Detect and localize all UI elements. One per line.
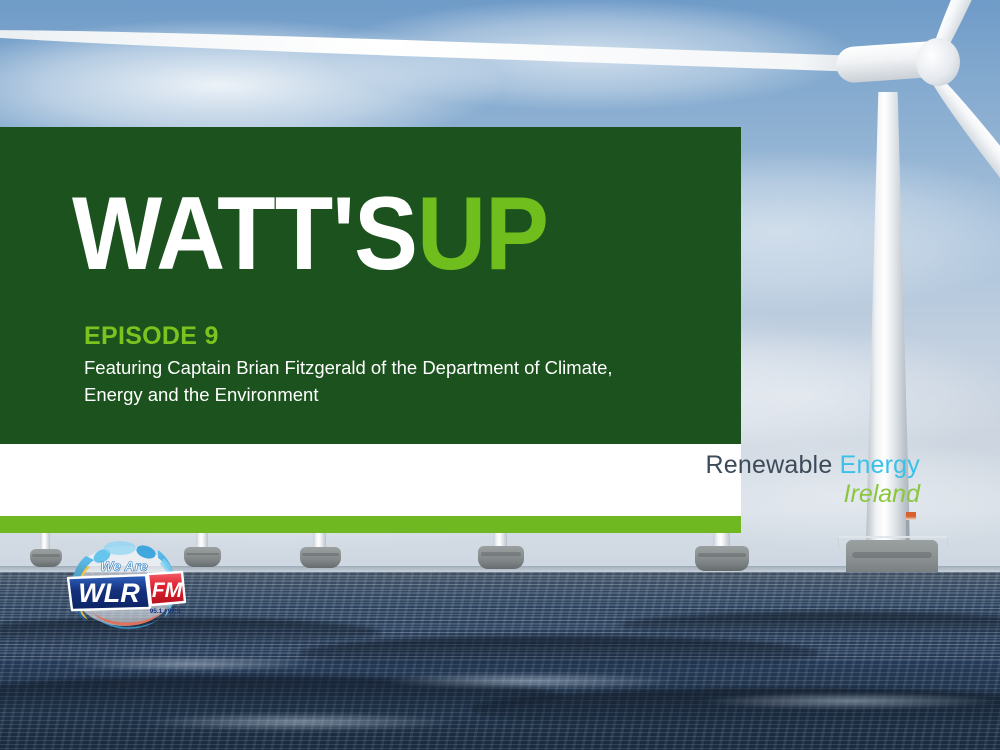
turbine-base [30, 549, 62, 567]
episode-number-label: EPISODE 9 [84, 322, 219, 351]
wave-foam [380, 672, 680, 690]
wlr-callsign-banner: WLR [68, 575, 150, 610]
show-title-part-green: UP [417, 176, 548, 292]
wlr-frequencies: 95.1 / 97.5 [150, 608, 181, 615]
logo-panel [0, 444, 741, 516]
rei-word-ireland: Ireland [706, 481, 920, 508]
wave [300, 636, 820, 670]
rei-word-renewable: Renewable [706, 451, 833, 479]
turbine-base [300, 547, 341, 568]
episode-cover-image: WATT'SUP EPISODE 9 Featuring Captain Bri… [0, 0, 1000, 750]
wlr-callsign-text: WLR [78, 578, 140, 608]
wlr-band-banner: FM [148, 572, 185, 605]
wave-foam [700, 692, 1000, 710]
wave-foam [140, 712, 460, 732]
show-title-part-white: WATT'S [72, 176, 417, 292]
rei-word-energy: Energy [840, 451, 920, 479]
episode-guest-description: Featuring Captain Brian Fitzgerald of th… [84, 355, 664, 409]
wave-foam [60, 656, 320, 672]
platform-marker [906, 512, 916, 520]
turbine-hub [916, 38, 960, 86]
show-title-wordmark: WATT'SUP [72, 182, 548, 286]
wlr-tagline: We Are [100, 558, 148, 574]
turbine-base [695, 546, 749, 571]
turbine-base [478, 546, 524, 569]
wlr-fm-logo: We Are WLR FM 95.1 / 97.5 [62, 534, 187, 634]
rei-line-1: Renewable Energy [706, 452, 920, 479]
accent-bar [0, 516, 741, 533]
wlr-band-text: FM [152, 579, 183, 602]
renewable-energy-ireland-logo: Renewable Energy Ireland [706, 452, 920, 508]
turbine-base [184, 547, 221, 567]
wlr-fm-logo-graphic: We Are WLR FM 95.1 / 97.5 [62, 534, 187, 634]
